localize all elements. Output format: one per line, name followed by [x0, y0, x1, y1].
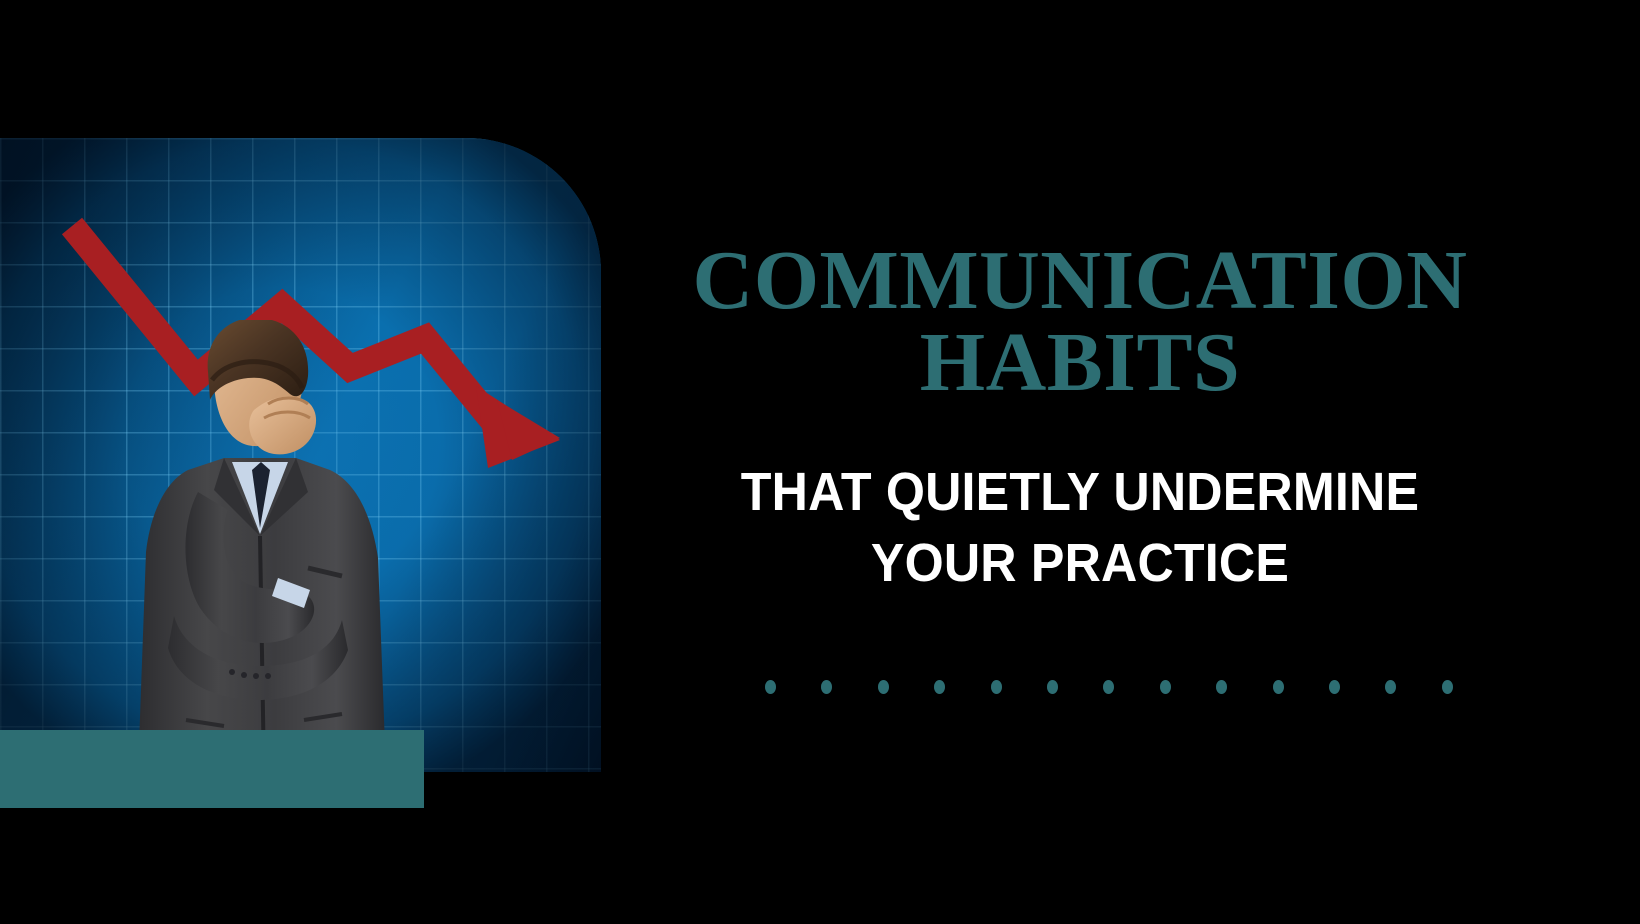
- divider-dot: [1385, 680, 1396, 694]
- teal-accent-bar: [0, 730, 424, 808]
- dotted-divider: [765, 680, 1453, 694]
- divider-dot: [1103, 680, 1114, 694]
- text-block: COMMUNICATION HABITS THAT QUIETLY UNDERM…: [620, 240, 1540, 599]
- divider-dot: [991, 680, 1002, 694]
- divider-dot: [1273, 680, 1284, 694]
- divider-dot: [878, 680, 889, 694]
- divider-dot: [765, 680, 776, 694]
- divider-dot: [1442, 680, 1453, 694]
- divider-dot: [1216, 680, 1227, 694]
- page-title: COMMUNICATION HABITS: [620, 240, 1540, 405]
- divider-dot: [821, 680, 832, 694]
- divider-dot: [1329, 680, 1340, 694]
- businessman-figure: [128, 320, 396, 772]
- page-subtitle: THAT QUIETLY UNDERMINE YOUR PRACTICE: [652, 457, 1508, 600]
- divider-dot: [934, 680, 945, 694]
- divider-dot: [1160, 680, 1171, 694]
- declining-graph-photo: [0, 138, 601, 772]
- divider-dot: [1047, 680, 1058, 694]
- slide-canvas: COMMUNICATION HABITS THAT QUIETLY UNDERM…: [0, 0, 1640, 924]
